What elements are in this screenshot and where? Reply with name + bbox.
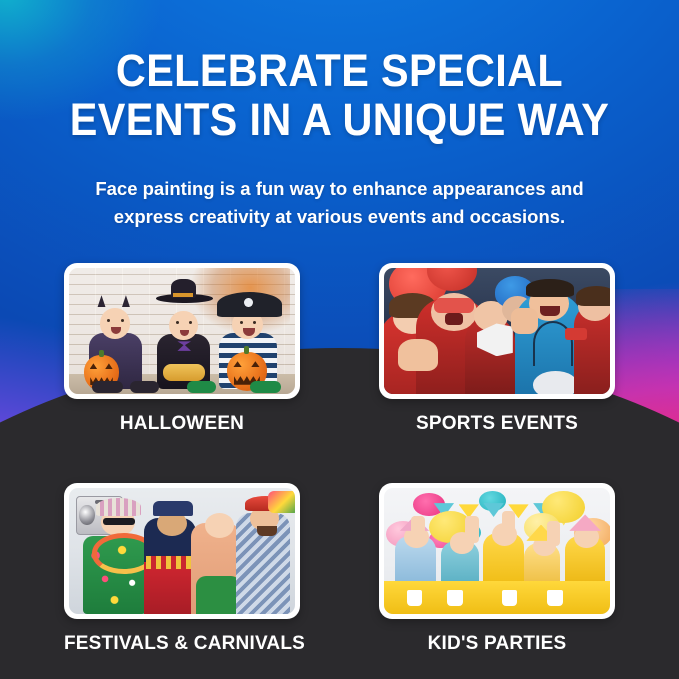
- category-row-bottom: FESTIVALS & CARNIVALS: [64, 483, 615, 655]
- category-label-sports: SPORTS EVENTS: [379, 413, 615, 435]
- pirate-eye-left: [240, 321, 243, 324]
- festivals-photo: [69, 488, 295, 614]
- page-title: CELEBRATE SPECIAL EVENTS IN A UNIQUE WAY: [27, 46, 652, 144]
- pumpkin-eye-left: [90, 363, 98, 369]
- festivals-scene: [69, 488, 295, 614]
- party-cup-2: [447, 590, 463, 606]
- fan-5-hair: [526, 279, 573, 297]
- page-subtitle: Face painting is a fun way to enhance ap…: [72, 175, 607, 231]
- beard: [257, 526, 277, 536]
- sports-photo: [384, 268, 610, 394]
- category-cell-festivals[interactable]: FESTIVALS & CARNIVALS: [64, 483, 300, 655]
- fan-2-mouth: [445, 313, 463, 324]
- headline-line-2: EVENTS IN A UNIQUE WAY: [27, 95, 652, 144]
- kid-pirate: [214, 286, 286, 389]
- category-label-festivals: FESTIVALS & CARNIVALS: [64, 633, 300, 655]
- raised-hand-right: [511, 308, 538, 333]
- pumpkin-right-eye-right: [251, 361, 260, 367]
- raised-arm-1: [411, 516, 425, 541]
- party-cup-3: [502, 590, 518, 606]
- pumpkin-eye-right: [105, 363, 113, 369]
- subtitle-line-2: express creativity at various events and…: [72, 203, 607, 231]
- category-card-sports[interactable]: [379, 263, 615, 399]
- cat-mouth: [111, 327, 120, 333]
- raised-hand-left: [398, 339, 439, 372]
- party-cup-1: [407, 590, 423, 606]
- ivy-costume: [196, 576, 241, 614]
- festival-belt: [146, 556, 196, 569]
- boombox-speaker-left: [79, 505, 94, 525]
- cat-head: [100, 308, 130, 338]
- category-grid: HALLOWEEN: [64, 263, 615, 655]
- subtitle-line-1: Face painting is a fun way to enhance ap…: [72, 175, 607, 203]
- festival-headdress: [153, 501, 194, 516]
- cat-ear-left: [97, 295, 105, 307]
- kids-photo: [384, 488, 610, 614]
- category-label-halloween: HALLOWEEN: [64, 413, 300, 435]
- kids-scene: [384, 488, 610, 614]
- fan-6-hair: [576, 286, 610, 306]
- halloween-photo: [69, 268, 295, 394]
- poster-canvas: CELEBRATE SPECIAL EVENTS IN A UNIQUE WAY…: [0, 0, 679, 679]
- white-cap: [533, 371, 578, 394]
- party-cup-4: [547, 590, 563, 606]
- category-row-top: HALLOWEEN: [64, 263, 615, 435]
- raised-arm-3: [502, 511, 516, 539]
- witch-hat-band: [173, 293, 193, 297]
- category-card-festivals[interactable]: [64, 483, 300, 619]
- shoe-1: [92, 381, 124, 392]
- kid-cat: [83, 288, 151, 389]
- category-card-halloween[interactable]: [64, 263, 300, 399]
- shoe-3: [187, 381, 216, 392]
- cat-ear-right: [122, 295, 130, 307]
- bucket-hat: [96, 498, 141, 516]
- rainbow-fan: [268, 491, 295, 514]
- category-card-kids[interactable]: [379, 483, 615, 619]
- shoe-2: [130, 381, 159, 392]
- category-label-kids: KID'S PARTIES: [379, 633, 615, 655]
- wristband: [565, 328, 588, 339]
- category-cell-halloween[interactable]: HALLOWEEN: [64, 263, 300, 435]
- fan-2-facepaint: [434, 298, 475, 313]
- headline-line-1: CELEBRATE SPECIAL: [27, 46, 652, 95]
- candy-pile: [163, 364, 205, 381]
- raised-arm-4: [547, 521, 561, 546]
- kid-witch: [150, 283, 218, 389]
- shoe-4: [250, 381, 282, 392]
- category-cell-kids[interactable]: KID'S PARTIES: [379, 483, 615, 655]
- pirate-skull: [244, 298, 253, 307]
- sports-scene: [384, 268, 610, 394]
- sunglasses-icon: [103, 518, 135, 524]
- fan-5-mouth: [540, 306, 560, 316]
- halloween-scene: [69, 268, 295, 394]
- category-cell-sports[interactable]: SPORTS EVENTS: [379, 263, 615, 435]
- raised-arm-2: [465, 516, 479, 544]
- pumpkin-right-eye-left: [233, 361, 242, 367]
